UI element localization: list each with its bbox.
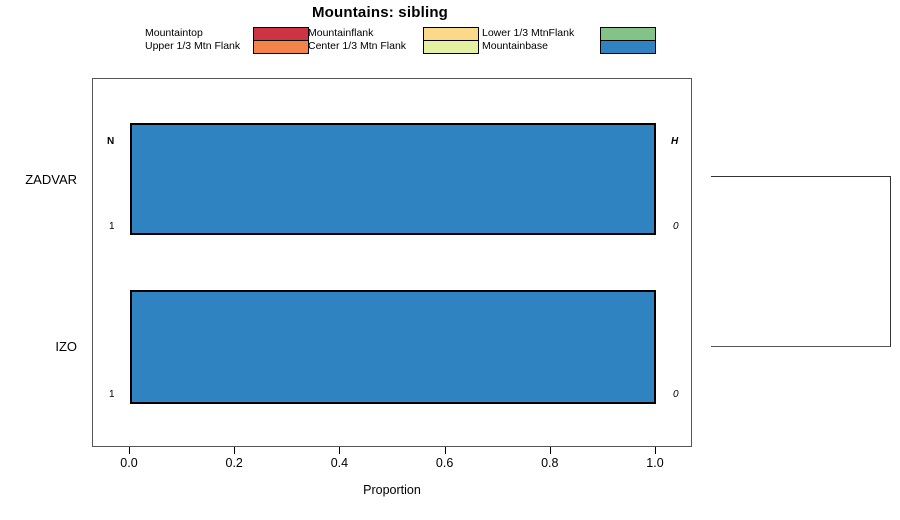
legend-labels-1: Mountainflank Center 1/3 Mtn Flank	[308, 27, 406, 53]
bar-izo-mountainbase[interactable]	[130, 290, 656, 404]
x-tick-label-4: 0.8	[541, 456, 558, 470]
x-tick-label-2: 0.4	[331, 456, 348, 470]
legend-column-0: Mountaintop Upper 1/3 Mtn Flank	[145, 27, 310, 57]
legend-swatch-mountainflank	[424, 28, 478, 41]
category-label-izo: IZO	[0, 339, 77, 354]
legend-swatches-0	[253, 27, 309, 54]
x-tick-label-5: 1.0	[646, 456, 663, 470]
x-axis-title: Proportion	[92, 483, 692, 497]
legend-column-1: Mountainflank Center 1/3 Mtn Flank	[308, 27, 480, 57]
legend-label-upper-third-mtn-flank: Upper 1/3 Mtn Flank	[145, 40, 240, 53]
bar-zadvar-mountainbase[interactable]	[130, 123, 656, 235]
legend-label-center-third-mtn-flank: Center 1/3 Mtn Flank	[308, 40, 406, 53]
chart-legend: Mountaintop Upper 1/3 Mtn Flank Mountain…	[145, 27, 665, 57]
legend-label-mountainbase: Mountainbase	[482, 40, 574, 53]
plot-area: ZADVAR IZO N 1 H 0 1 0	[92, 78, 692, 447]
legend-labels-2: Lower 1/3 MtnFlank Mountainbase	[482, 27, 574, 53]
legend-swatch-mountainbase	[601, 41, 655, 53]
category-label-zadvar: ZADVAR	[0, 172, 77, 187]
legend-labels-0: Mountaintop Upper 1/3 Mtn Flank	[145, 27, 240, 53]
x-tick-mark-1	[234, 447, 235, 454]
annotation-izo-bottom-left: 1	[109, 389, 115, 400]
legend-label-mountaintop: Mountaintop	[145, 27, 240, 40]
x-tick-mark-3	[445, 447, 446, 454]
legend-column-2: Lower 1/3 MtnFlank Mountainbase	[482, 27, 657, 57]
annotation-zadvar-top-left: N	[107, 136, 114, 147]
annotation-izo-bottom-right: 0	[673, 389, 679, 400]
legend-label-mountainflank: Mountainflank	[308, 27, 406, 40]
secondary-empty-panel	[711, 176, 891, 347]
annotation-zadvar-bottom-left: 1	[109, 221, 115, 232]
legend-swatch-center-third-mtn-flank	[424, 41, 478, 53]
x-tick-mark-5	[655, 447, 656, 454]
chart-title: Mountains: sibling	[0, 4, 760, 21]
x-tick-label-0: 0.0	[120, 456, 137, 470]
x-tick-mark-4	[550, 447, 551, 454]
legend-swatches-2	[600, 27, 656, 54]
legend-swatch-lower-third-mtn-flank	[601, 28, 655, 41]
x-tick-mark-0	[129, 447, 130, 454]
x-tick-mark-2	[339, 447, 340, 454]
x-tick-label-3: 0.6	[436, 456, 453, 470]
legend-label-lower-third-mtn-flank: Lower 1/3 MtnFlank	[482, 27, 574, 40]
legend-swatches-1	[423, 27, 479, 54]
legend-swatch-upper-third-mtn-flank	[254, 41, 308, 53]
annotation-zadvar-top-right: H	[671, 136, 678, 147]
legend-swatch-mountaintop	[254, 28, 308, 41]
annotation-zadvar-bottom-right: 0	[673, 221, 679, 232]
x-axis: 0.00.20.40.60.81.0 Proportion	[92, 447, 692, 507]
x-tick-label-1: 0.2	[225, 456, 242, 470]
